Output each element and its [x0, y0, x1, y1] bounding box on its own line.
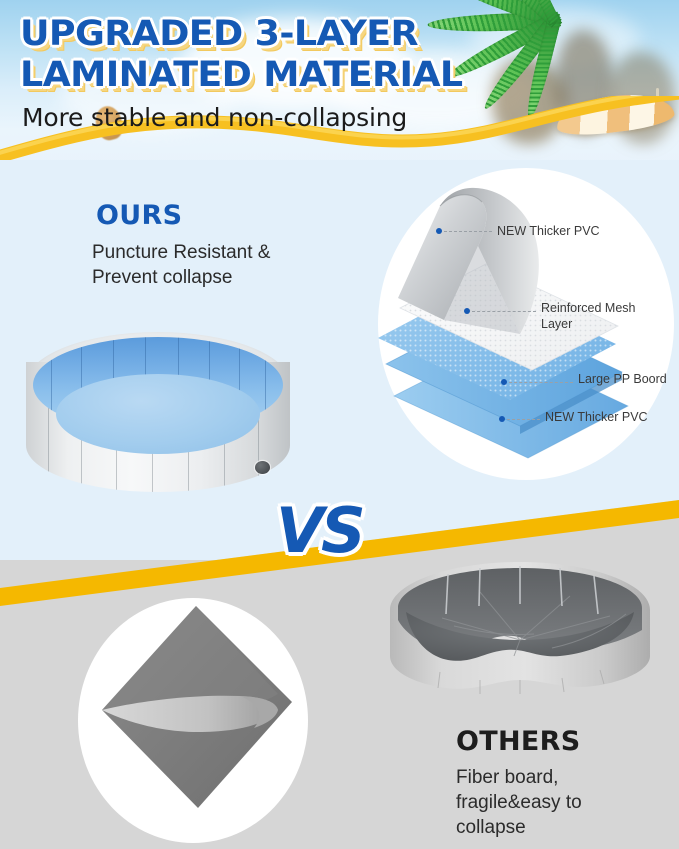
others-collapsed-pool-illustration [384, 552, 656, 720]
ours-pool-illustration [22, 322, 294, 502]
callout-leader-1 [444, 231, 492, 232]
title-line-2: LAMINATED MATERIAL [20, 55, 509, 96]
peeling-fiber-sheet-illustration [78, 598, 308, 843]
pool-drain-plug-icon [255, 461, 270, 474]
callout-marker-2 [464, 308, 470, 314]
others-description: Fiber board, fragile&easy to collapse [456, 765, 656, 840]
callout-leader-3 [509, 382, 573, 383]
vs-badge: VS [276, 500, 363, 562]
callout-marker-1 [436, 228, 442, 234]
callout-label-reinforced-mesh-layer: Reinforced Mesh Layer [541, 300, 661, 332]
callout-leader-2 [472, 311, 536, 312]
callout-label-new-thicker-pvc-top: NEW Thicker PVC [497, 223, 600, 239]
others-heading: OTHERS [456, 726, 580, 757]
callout-leader-4 [507, 419, 540, 420]
title-line-1: UPGRADED 3-LAYER [20, 14, 509, 55]
infographic-root: UPGRADED 3-LAYER LAMINATED MATERIAL More… [0, 0, 679, 849]
callout-label-new-thicker-pvc-bottom: NEW Thicker PVC [545, 409, 655, 425]
header-subtitle: More stable and non-collapsing [22, 103, 490, 133]
ours-description: Puncture Resistant & Prevent collapse [92, 240, 307, 290]
header-title-block: UPGRADED 3-LAYER LAMINATED MATERIAL More… [20, 14, 490, 133]
pool-floor [56, 374, 260, 454]
callout-label-large-pp-board: Large PP Boord [578, 371, 674, 387]
ours-heading: OURS [96, 200, 182, 231]
callout-marker-3 [501, 379, 507, 385]
callout-marker-4 [499, 416, 505, 422]
